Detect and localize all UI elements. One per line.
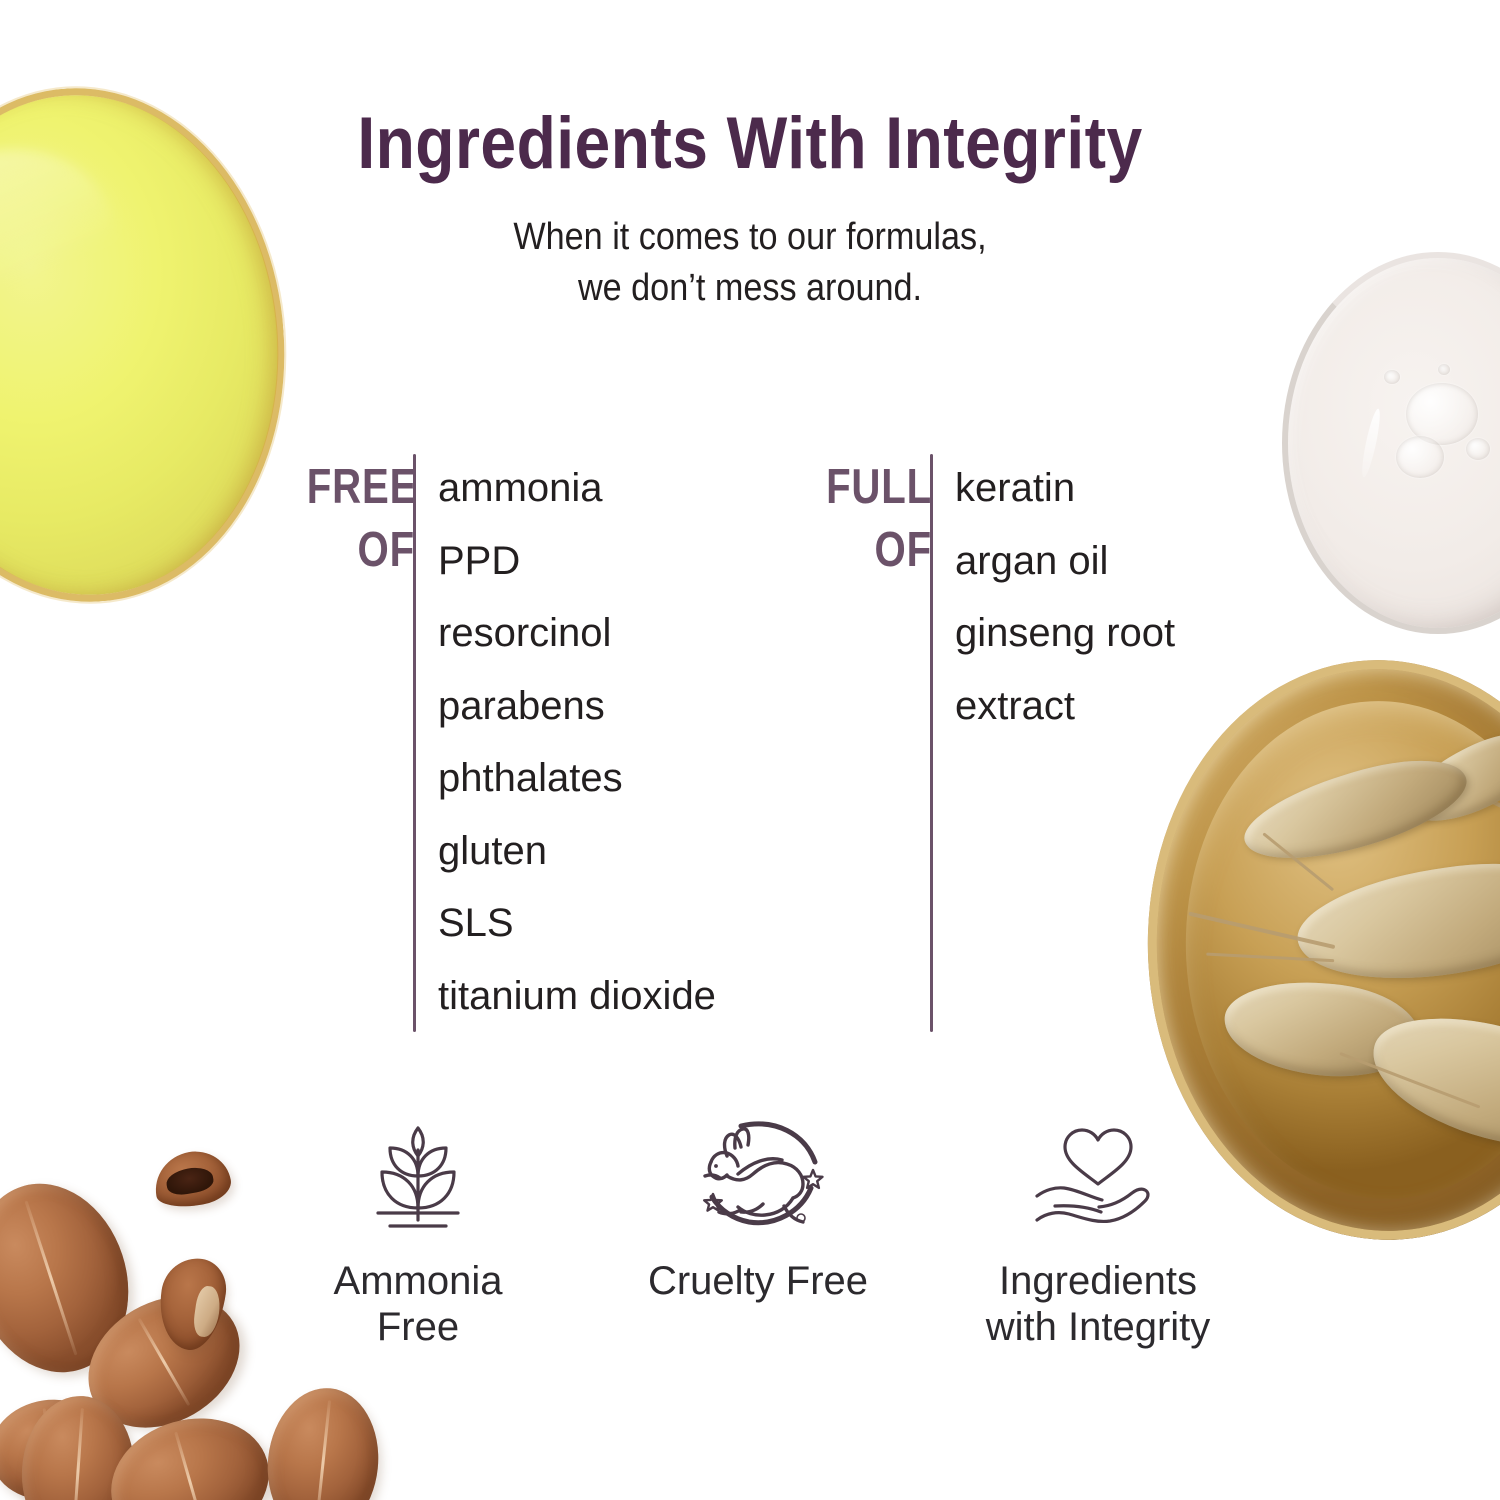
badge-cruelty-free: Cruelty Free <box>588 1108 928 1351</box>
gel-bubble <box>1384 370 1400 384</box>
plant-leaf-icon <box>356 1108 480 1244</box>
list-item: argan oil <box>955 525 1175 598</box>
free-of-label: FREE OF <box>307 452 415 1032</box>
infographic-canvas: Ingredients With Integrity When it comes… <box>0 0 1500 1500</box>
page-subtitle: When it comes to our formulas, we don’t … <box>75 182 1425 314</box>
list-item: resorcinol <box>438 597 716 670</box>
badge-label: Cruelty Free <box>648 1258 868 1304</box>
badge-ammonia-free: Ammonia Free <box>248 1108 588 1351</box>
list-item: PPD <box>438 525 716 598</box>
list-item: ammonia <box>438 452 716 525</box>
badge-label: Ammonia Free <box>334 1258 503 1351</box>
full-of-items: keratin argan oil ginseng root extract <box>933 452 1175 1032</box>
list-item: keratin <box>955 452 1175 525</box>
heart-in-hand-icon <box>1029 1108 1167 1244</box>
gel-bubble <box>1438 364 1450 375</box>
argan-nut <box>260 1383 385 1500</box>
argan-shell-fragment <box>150 1146 234 1212</box>
list-item: phthalates <box>438 742 716 815</box>
list-item: extract <box>955 670 1175 743</box>
full-of-label: FULL OF <box>824 452 932 1032</box>
certification-badges: Ammonia Free <box>248 1108 1268 1351</box>
free-of-column: FREE OF ammonia PPD resorcinol parabens … <box>283 452 716 1032</box>
list-item: titanium dioxide <box>438 960 716 1033</box>
list-item: gluten <box>438 815 716 888</box>
page-title: Ingredients With Integrity <box>90 0 1410 182</box>
header: Ingredients With Integrity When it comes… <box>0 0 1500 314</box>
free-of-items: ammonia PPD resorcinol parabens phthalat… <box>416 452 716 1032</box>
full-of-column: FULL OF keratin argan oil ginseng root e… <box>800 452 1175 1032</box>
list-item: SLS <box>438 887 716 960</box>
leaping-bunny-icon <box>683 1108 833 1244</box>
ingredient-lists: FREE OF ammonia PPD resorcinol parabens … <box>0 452 1500 1042</box>
badge-label: Ingredients with Integrity <box>986 1258 1211 1351</box>
list-item: parabens <box>438 670 716 743</box>
list-item: ginseng root <box>955 597 1175 670</box>
badge-ingredients-integrity: Ingredients with Integrity <box>928 1108 1268 1351</box>
